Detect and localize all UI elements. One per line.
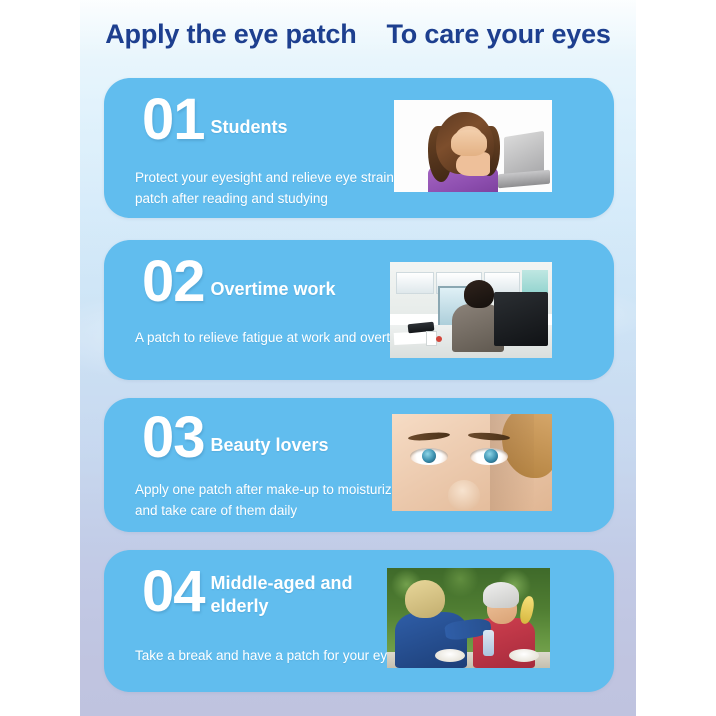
- background-white-margin-left: [0, 0, 80, 716]
- benefit-card-2[interactable]: 02 Overtime work A patch to relieve fati…: [104, 240, 614, 380]
- page-title: Apply the eye patchTo care your eyes: [0, 19, 716, 50]
- card-4-head: 04 Middle-aged and elderly: [142, 564, 391, 619]
- page-title-right: To care your eyes: [387, 19, 611, 50]
- card-3-photo: [392, 414, 552, 511]
- product-infographic-page: Apply the eye patchTo care your eyes 01 …: [0, 0, 716, 716]
- benefit-card-1[interactable]: 01 Students Protect your eyesight and re…: [104, 78, 614, 218]
- card-1-number: 01: [142, 92, 205, 147]
- card-2-heading: Overtime work: [211, 278, 336, 310]
- benefit-card-4[interactable]: 04 Middle-aged and elderly Take a break …: [104, 550, 614, 692]
- card-3-head: 03 Beauty lovers: [142, 410, 329, 465]
- benefit-card-3[interactable]: 03 Beauty lovers Apply one patch after m…: [104, 398, 614, 532]
- card-1-photo: [394, 100, 552, 192]
- card-4-number: 04: [142, 564, 205, 619]
- card-3-number: 03: [142, 410, 205, 465]
- card-4-photo: [387, 568, 550, 668]
- card-2-head: 02 Overtime work: [142, 254, 336, 309]
- card-2-photo: [390, 262, 552, 358]
- card-1-heading: Students: [211, 116, 288, 148]
- card-1-head: 01 Students: [142, 92, 288, 147]
- card-3-heading: Beauty lovers: [211, 434, 329, 466]
- card-2-number: 02: [142, 254, 205, 309]
- background-white-margin-right: [636, 0, 716, 716]
- card-4-heading: Middle-aged and elderly: [211, 572, 391, 619]
- page-title-left: Apply the eye patch: [105, 19, 356, 50]
